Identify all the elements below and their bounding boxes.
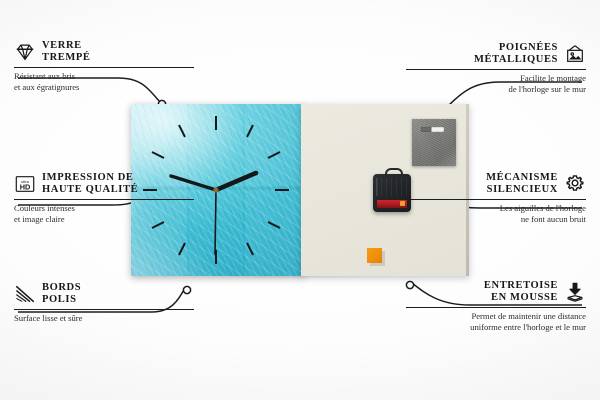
clock-hand-hour (216, 173, 256, 190)
arrow-down-to-surface-icon (564, 281, 586, 303)
tick-1 (247, 125, 253, 137)
feature-subtitle: Les aiguilles de l'horlogene font aucun … (406, 203, 586, 224)
gear-icon (564, 173, 586, 195)
picture-hanger-icon (564, 43, 586, 65)
feature-title: MÉCANISMESILENCIEUX (486, 172, 558, 196)
feature-poignees-metalliques: POIGNÉESMÉTALLIQUES Facilite le montaged… (406, 42, 586, 94)
metal-hanger-plate (412, 119, 456, 166)
feature-title: IMPRESSION DEHAUTE QUALITÉ (42, 172, 138, 196)
tick-10 (152, 152, 164, 158)
clock-hand-second (215, 190, 216, 254)
feature-rule (14, 199, 194, 200)
feature-header: VERRETREMPÉ (14, 40, 194, 64)
feature-impression-haute-qualite: ultra HD IMPRESSION DEHAUTE QUALITÉ Coul… (14, 172, 194, 224)
tick-11 (179, 125, 185, 137)
feature-rule (406, 307, 586, 308)
tick-4 (268, 222, 280, 228)
feature-mecanisme-silencieux: MÉCANISMESILENCIEUX Les aiguilles de l'h… (406, 172, 586, 224)
feature-subtitle: Surface lisse et sûre (14, 313, 194, 323)
feature-bords-polis: BORDSPOLIS Surface lisse et sûre (14, 282, 194, 324)
feature-title: VERRETREMPÉ (42, 40, 91, 64)
feature-title: ENTRETOISEEN MOUSSE (484, 280, 558, 304)
feature-rule (14, 67, 194, 68)
feature-subtitle: Facilite le montagede l'horloge sur le m… (406, 73, 586, 94)
feature-subtitle: Permet de maintenir une distanceuniforme… (406, 311, 586, 332)
ultra-hd-icon: ultra HD (14, 173, 36, 195)
feature-subtitle: Résistant aux briset aux égratignures (14, 71, 194, 92)
diamond-icon (14, 41, 36, 63)
battery (377, 200, 407, 208)
feature-verre-trempe: VERRETREMPÉ Résistant aux briset aux égr… (14, 40, 194, 92)
feature-title: BORDSPOLIS (42, 282, 81, 306)
infographic-canvas: VERRETREMPÉ Résistant aux briset aux égr… (0, 0, 600, 400)
tick-7 (179, 243, 185, 255)
feature-entretoise-en-mousse: ENTRETOISEEN MOUSSE Permet de maintenir … (406, 280, 586, 332)
feature-rule (406, 69, 586, 70)
feature-rule (14, 309, 194, 310)
tick-2 (268, 152, 280, 158)
feature-title: POIGNÉESMÉTALLIQUES (474, 42, 558, 66)
feature-header: MÉCANISMESILENCIEUX (406, 172, 586, 196)
feature-header: ultra HD IMPRESSION DEHAUTE QUALITÉ (14, 172, 194, 196)
feature-header: BORDSPOLIS (14, 282, 194, 306)
polished-edge-lines-icon (14, 283, 36, 305)
feature-header: POIGNÉESMÉTALLIQUES (406, 42, 586, 66)
feature-subtitle: Couleurs intenseset image claire (14, 203, 194, 224)
feature-rule (406, 199, 586, 200)
battery-positive-terminal (400, 201, 405, 206)
svg-text:HD: HD (20, 183, 31, 192)
clock-hands-hub (213, 187, 218, 192)
movement-housing-texture (376, 178, 408, 196)
tick-5 (247, 243, 253, 255)
feature-header: ENTRETOISEEN MOUSSE (406, 280, 586, 304)
foam-spacer (367, 248, 382, 263)
hanger-slot (421, 127, 444, 132)
